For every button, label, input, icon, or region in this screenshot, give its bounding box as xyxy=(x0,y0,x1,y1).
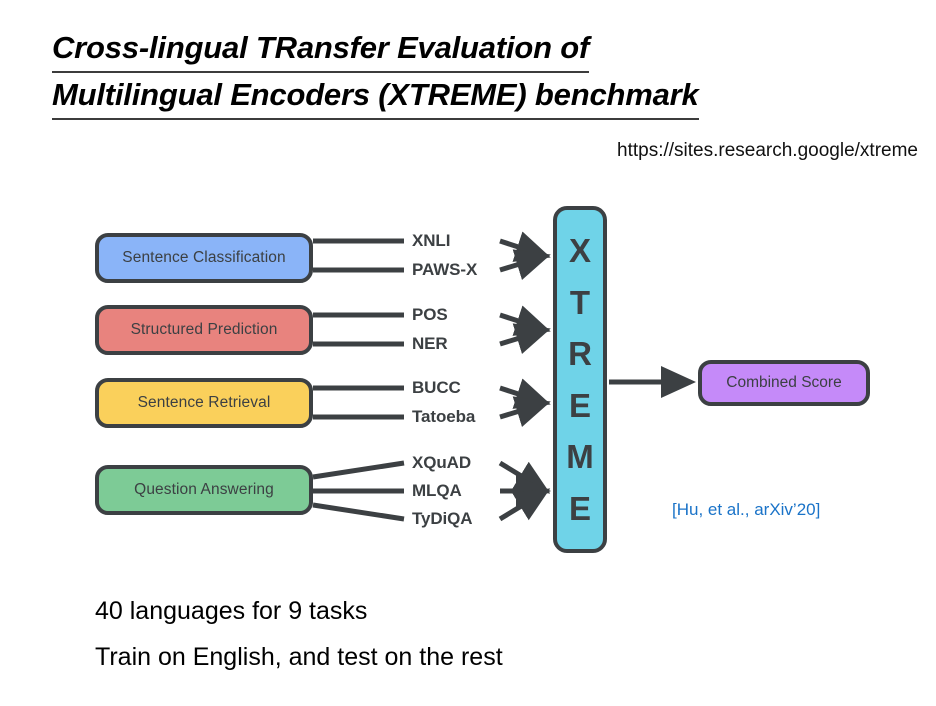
citation-text: [Hu, et al., arXiv’20] xyxy=(672,500,820,520)
xtreme-letter-m: M xyxy=(566,440,594,473)
xtreme-letter-r: R xyxy=(568,337,592,370)
xtreme-letter-e2: E xyxy=(569,492,591,525)
combined-score-label: Combined Score xyxy=(726,374,841,392)
xtreme-letter-e1: E xyxy=(569,389,591,422)
dataset-label-tatoeba: Tatoeba xyxy=(412,407,475,427)
category-box-structured-prediction[interactable]: Structured Prediction xyxy=(95,305,313,355)
dataset-label-pawsx: PAWS-X xyxy=(412,260,477,280)
category-label: Structured Prediction xyxy=(131,321,278,339)
dataset-label-mlqa: MLQA xyxy=(412,481,462,501)
category-label: Sentence Classification xyxy=(122,249,285,267)
category-label: Sentence Retrieval xyxy=(138,394,271,412)
summary-line-1: 40 languages for 9 tasks xyxy=(95,588,503,634)
summary-text: 40 languages for 9 tasks Train on Englis… xyxy=(95,588,503,681)
xtreme-letter-t: T xyxy=(570,286,590,319)
summary-line-2: Train on English, and test on the rest xyxy=(95,634,503,680)
dataset-label-xnli: XNLI xyxy=(412,231,450,251)
dataset-label-xquad: XQuAD xyxy=(412,453,471,473)
dataset-label-tydiqa: TyDiQA xyxy=(412,509,472,529)
dataset-label-bucc: BUCC xyxy=(412,378,461,398)
xtreme-letter-x: X xyxy=(569,234,591,267)
dataset-label-pos: POS xyxy=(412,305,448,325)
xtreme-hub-box[interactable]: X T R E M E xyxy=(553,206,607,553)
combined-score-box[interactable]: Combined Score xyxy=(698,360,870,406)
dataset-label-ner: NER xyxy=(412,334,448,354)
category-label: Question Answering xyxy=(134,481,274,499)
category-box-question-answering[interactable]: Question Answering xyxy=(95,465,313,515)
category-box-sentence-classification[interactable]: Sentence Classification xyxy=(95,233,313,283)
category-box-sentence-retrieval[interactable]: Sentence Retrieval xyxy=(95,378,313,428)
